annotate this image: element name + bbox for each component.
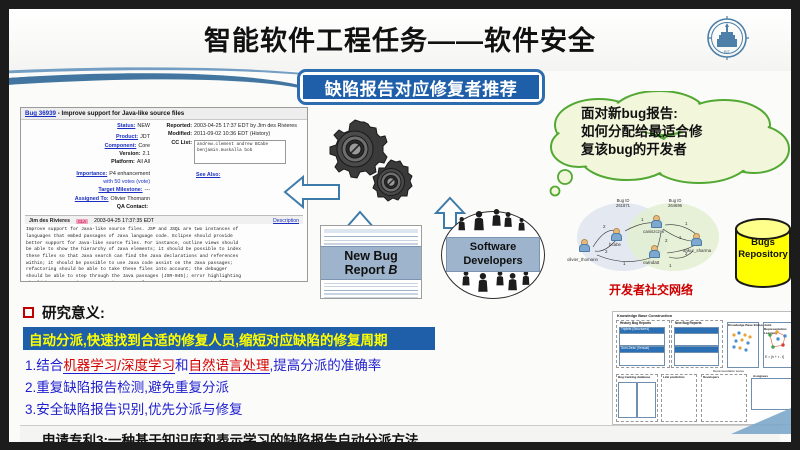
bug-field-value: JDT xyxy=(140,134,150,141)
fw-box-developers xyxy=(701,374,747,422)
fw-doc-new xyxy=(637,382,656,418)
thought-cloud-line-2: 如何分配给最适合修 xyxy=(581,123,781,141)
research-significance-header: 研究意义: xyxy=(23,302,105,323)
fw-table-triplets-2 xyxy=(674,333,719,346)
avatar-body xyxy=(649,250,660,258)
avatar-body xyxy=(611,233,622,241)
bug-field-label[interactable]: Status: xyxy=(117,123,137,130)
item-highlight-1: 机器学习/深度学习 xyxy=(63,358,175,374)
bug-field-row: Product:JDT xyxy=(25,134,150,141)
bug-fields-left: Status:NEW Product:JDT Component:Core Ve… xyxy=(25,123,150,212)
bug-field-row: with 50 votes (vote) xyxy=(25,179,150,186)
bug-title-summary: Improve support for Java-like source fil… xyxy=(61,110,184,117)
social-network-caption: 开发者社交网络 xyxy=(565,281,737,298)
bug-field-label: Platform: xyxy=(111,159,137,166)
bug-field-value: 2003-04-25 17:37 EDT by Jim des Rivieres xyxy=(194,123,297,130)
thought-cloud-text: 面对新bug报告: 如何分配给最适合修 复该bug的开发者 xyxy=(581,105,781,160)
bug-field-value: All All xyxy=(137,159,150,166)
comment-timestamp: 2003-04-25 17:37:35 EDT xyxy=(94,218,154,224)
significance-list: 1.结合机器学习/深度学习和自然语言处理,提高分派的准确率 2.重复缺陷报告检测… xyxy=(25,355,495,421)
bugs-repository-line-1: Bugs xyxy=(734,237,791,249)
bug-field-row: CC List: andrew.clement andrew BCabe ben… xyxy=(156,140,301,164)
svg-text:BIT: BIT xyxy=(724,49,731,54)
cla-badge: CLA xyxy=(76,219,88,224)
bugs-repository-line-2: Repository xyxy=(734,249,791,261)
fw-doc-history xyxy=(618,382,637,418)
subtitle-text: 缺陷报告对应修复者推荐 xyxy=(303,75,539,99)
bug-field-label: QA Contact: xyxy=(117,204,150,211)
bug-field-value: P4 enhancement xyxy=(109,171,150,178)
see-also-label[interactable]: See Also: xyxy=(196,172,222,179)
fw-label-bug-tracking-db: Bug tracking database xyxy=(618,375,650,379)
fw-label-new-bug-reports: New Bug Reports xyxy=(675,321,702,325)
bug-field-value: 2.1 xyxy=(143,151,151,158)
see-also-row: See Also: xyxy=(156,172,301,179)
software-developers-line-1: Software xyxy=(470,241,516,254)
bug-field-row: Target Milestone:--- xyxy=(25,187,150,194)
software-developers-label: Software Developers xyxy=(446,237,540,272)
fw-table-triplets xyxy=(619,333,665,346)
significance-item-3: 3.安全缺陷报告识别,优先分派与修复 xyxy=(25,399,495,421)
fw-joint-graph xyxy=(765,329,790,351)
gears-icon xyxy=(321,116,419,216)
bug-report-panel: Bug 36939 - Improve support for Java-lik… xyxy=(20,107,308,282)
patent-bar: 申请专利3:一种基于知识库和表示学习的缺陷报告自动分派方法 xyxy=(20,425,780,442)
framework-diagram: Knowledge Base Construction History Bug … xyxy=(612,311,791,425)
item-highlight-2: 自然语言处理 xyxy=(189,358,270,374)
bug-report-title: Bug 36939 - Improve support for Java-lik… xyxy=(21,108,307,120)
significance-item-2: 2.重复缺陷报告检测,避免重复分派 xyxy=(25,377,495,399)
fw-table-sumdesc xyxy=(619,352,665,366)
bug-fields-grid: Status:NEW Product:JDT Component:Core Ve… xyxy=(21,120,307,212)
social-bug-id-2: Bug ID264696 xyxy=(657,198,693,208)
avatar-body xyxy=(651,220,662,228)
bug-field-label: Reported: xyxy=(156,123,194,130)
node-label-olivier-thomann: olivier_thomann xyxy=(567,257,598,262)
description-link[interactable]: Description xyxy=(273,218,299,224)
bug-fields-right: Reported:2003-04-25 17:37 EDT by Jim des… xyxy=(156,123,301,212)
bug-field-row: Status:NEW xyxy=(25,123,150,130)
software-developers-line-2: Developers xyxy=(463,255,522,268)
fw-embedding-scatter xyxy=(729,329,756,355)
new-bug-report-line-2: Report B xyxy=(345,263,398,277)
significance-item-1: 1.结合机器学习/深度学习和自然语言处理,提高分派的准确率 xyxy=(25,355,495,377)
frame-border-bottom xyxy=(0,442,800,450)
bug-field-row: Version:2.1 xyxy=(25,151,150,158)
subtitle-badge: 缺陷报告对应修复者推荐 xyxy=(297,69,545,105)
node-label-cwindatt: cwindatt xyxy=(643,260,659,265)
bug-field-value: 2011-09-02 10:36 EDT (History) xyxy=(194,131,270,138)
bug-field-row: Reported:2003-04-25 17:37 EDT by Jim des… xyxy=(156,123,301,130)
fw-label-history: History Bug Reports xyxy=(620,321,651,325)
avatar-body xyxy=(691,238,702,246)
new-bug-report-word: Report xyxy=(345,263,385,277)
bug-title-separator: - xyxy=(58,110,60,117)
bug-field-value: --- xyxy=(145,187,150,194)
bug-field-value: NEW xyxy=(137,123,150,130)
node-label-bcabe: bcabe xyxy=(609,242,621,247)
bug-field-label[interactable]: Target Milestone: xyxy=(98,187,144,194)
bug-field-row: Modified:2011-09-02 10:36 EDT (History) xyxy=(156,131,301,138)
frame-border-right xyxy=(791,0,800,450)
social-network-graph: 2 2 1 1 1 2 1 2 1 xyxy=(565,195,735,279)
item-seg1: 安全缺陷报告识别,优先分派与修复 xyxy=(36,402,242,417)
item-seg3: ,提高分派的准确率 xyxy=(270,358,382,373)
item-index: 3. xyxy=(25,402,36,417)
new-bug-report-line-1: New Bug xyxy=(344,249,397,263)
university-emblem-icon: BIT xyxy=(705,15,749,61)
fw-formula: E = [h + r - t] xyxy=(765,356,784,360)
fw-title-kb-construction: Knowledge Base Construction xyxy=(617,314,672,318)
avatar-body xyxy=(579,244,590,252)
item-index: 2. xyxy=(25,380,36,395)
comment-0-body: Improve support for Java-like source fil… xyxy=(21,224,307,282)
thought-cloud-line-1: 面对新bug报告: xyxy=(581,105,781,123)
fw-text-triplets: Triplets (Structured) xyxy=(621,328,649,332)
bug-field-row: Platform:All All xyxy=(25,159,150,166)
page-title: 智能软件工程任务——软件安全 xyxy=(9,19,791,58)
bugs-repository-label: Bugs Repository xyxy=(734,237,791,261)
comment-0-header: Jim des Rivieres CLA 2003-04-25 17:37:35… xyxy=(25,215,303,224)
cc-list-box[interactable]: andrew.clement andrew BCabe benjamin.mus… xyxy=(194,140,286,164)
bug-field-row: Assigned To:Olivier Thomann xyxy=(25,196,150,203)
fw-box-assignees xyxy=(751,378,791,410)
fw-label-scores: Recommendation scores xyxy=(713,370,744,373)
fw-text-sumdesc: Sum-Desc (Textual) xyxy=(621,347,649,351)
thumb-head xyxy=(324,229,418,233)
frame-border-left xyxy=(0,0,9,450)
new-bug-report-variable: B xyxy=(388,263,397,277)
node-label-ankur-sharma: ankur_sharma xyxy=(683,248,711,253)
bug-id-link[interactable]: Bug 36939 xyxy=(25,110,56,117)
bug-field-label[interactable]: Assigned To: xyxy=(75,196,111,203)
fw-box-link-prediction xyxy=(661,374,697,422)
developer-social-network-diagram: 2 2 1 1 1 2 1 2 1 xyxy=(565,195,735,279)
node-label-caniszczyk: caniszczyk xyxy=(643,229,664,234)
bug-field-row: QA Contact: xyxy=(25,204,150,211)
frame-border-top xyxy=(0,0,800,9)
bug-votes-value[interactable]: with 50 votes (vote) xyxy=(103,179,150,186)
significance-highlight-bar: 自动分派,快速找到合适的修复人员,缩短对应缺陷的修复周期 xyxy=(23,327,435,350)
bug-field-label[interactable]: Product: xyxy=(116,134,140,141)
bug-field-row: Importance:P4 enhancement xyxy=(25,171,150,178)
fw-label-link-prediction: Link prediction xyxy=(663,375,685,379)
item-seg2: 和 xyxy=(175,358,189,373)
bullet-square-icon xyxy=(23,307,34,318)
bug-field-label[interactable]: Component: xyxy=(105,143,139,150)
item-index: 1. xyxy=(25,358,36,373)
new-bug-report-label: New Bug Report B xyxy=(321,246,421,280)
research-significance-label: 研究意义: xyxy=(42,302,105,323)
bug-field-value: Olivier Thomann xyxy=(111,196,150,203)
bug-field-value: Core xyxy=(138,143,150,150)
new-bug-report-thumbnail: New Bug Report B xyxy=(320,225,422,299)
bug-field-label: Modified: xyxy=(156,131,194,138)
comment-author: Jim des Rivieres xyxy=(29,218,70,224)
bug-field-label[interactable]: Importance: xyxy=(76,171,109,178)
item-seg1: 结合 xyxy=(36,358,63,373)
social-bug-id-1: Bug ID261871 xyxy=(605,198,641,208)
slide-header: 智能软件工程任务——软件安全 xyxy=(9,9,791,71)
thought-cloud-line-3: 复该bug的开发者 xyxy=(581,141,781,159)
bug-field-row: Component:Core xyxy=(25,143,150,150)
slide-content: 智能软件工程任务——软件安全 BIT 缺陷报告对应修复者推荐 Bug xyxy=(9,9,791,442)
fw-table-sumdesc-2 xyxy=(674,352,719,366)
bug-field-label: Version: xyxy=(119,151,142,158)
bug-field-label: CC List: xyxy=(156,140,194,164)
fw-label-developers: Developers xyxy=(703,375,719,379)
fw-label-assignees: Assignees xyxy=(753,374,768,378)
item-seg1: 重复缺陷报告检测,避免重复分派 xyxy=(36,380,229,395)
slide-root: 智能软件工程任务——软件安全 BIT 缺陷报告对应修复者推荐 Bug xyxy=(0,0,800,450)
